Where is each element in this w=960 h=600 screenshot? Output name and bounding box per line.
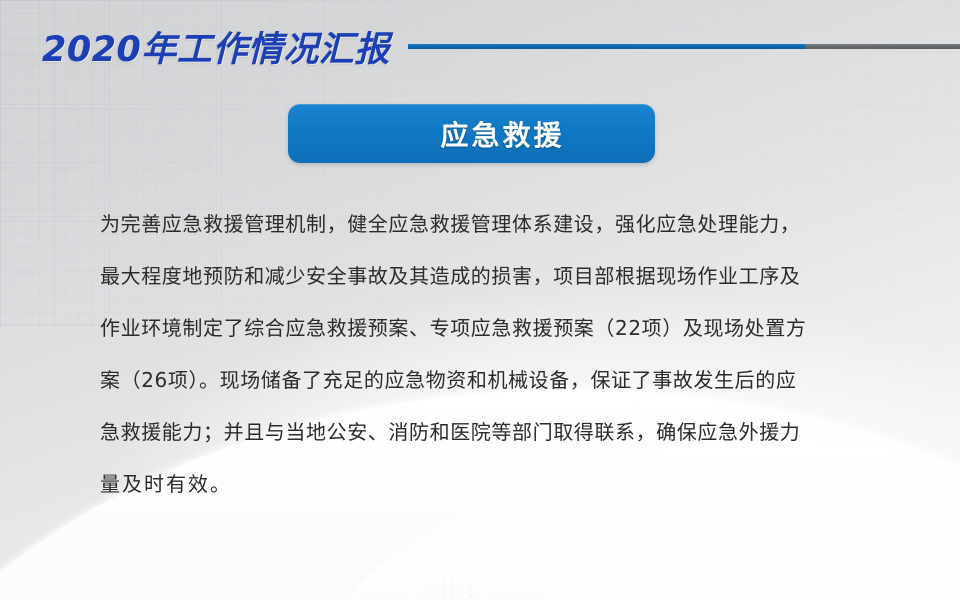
slide-header: 2020年工作情况汇报 xyxy=(0,0,960,92)
body-line: 最大程度地预防和减少安全事故及其造成的损害，项目部根据现场作业工序及 xyxy=(100,250,860,302)
body-line: 案（26项）。现场储备了充足的应急物资和机械设备，保证了事故发生后的应 xyxy=(100,354,860,406)
header-rule-gray xyxy=(805,44,960,49)
page-title: 2020年工作情况汇报 xyxy=(42,21,390,72)
presentation-slide: 2020年工作情况汇报 应急救援 为完善应急救援管理机制，健全应急救援管理体系建… xyxy=(0,0,960,600)
background-dot-pattern xyxy=(250,520,670,600)
body-line: 急救援能力；并且与当地公安、消防和医院等部门取得联系，确保应急外援力 xyxy=(100,406,860,458)
body-line: 量及时有效。 xyxy=(100,458,860,510)
section-banner: 应急救援 xyxy=(288,104,655,163)
body-paragraph: 为完善应急救援管理机制，健全应急救援管理体系建设，强化应急处理能力， 最大程度地… xyxy=(100,198,860,510)
header-rule-blue xyxy=(408,44,806,49)
body-line: 为完善应急救援管理机制，健全应急救援管理体系建设，强化应急处理能力， xyxy=(100,198,860,250)
body-line: 作业环境制定了综合应急救援预案、专项应急救援预案（22项）及现场处置方 xyxy=(100,302,860,354)
section-banner-label: 应急救援 xyxy=(440,114,564,154)
